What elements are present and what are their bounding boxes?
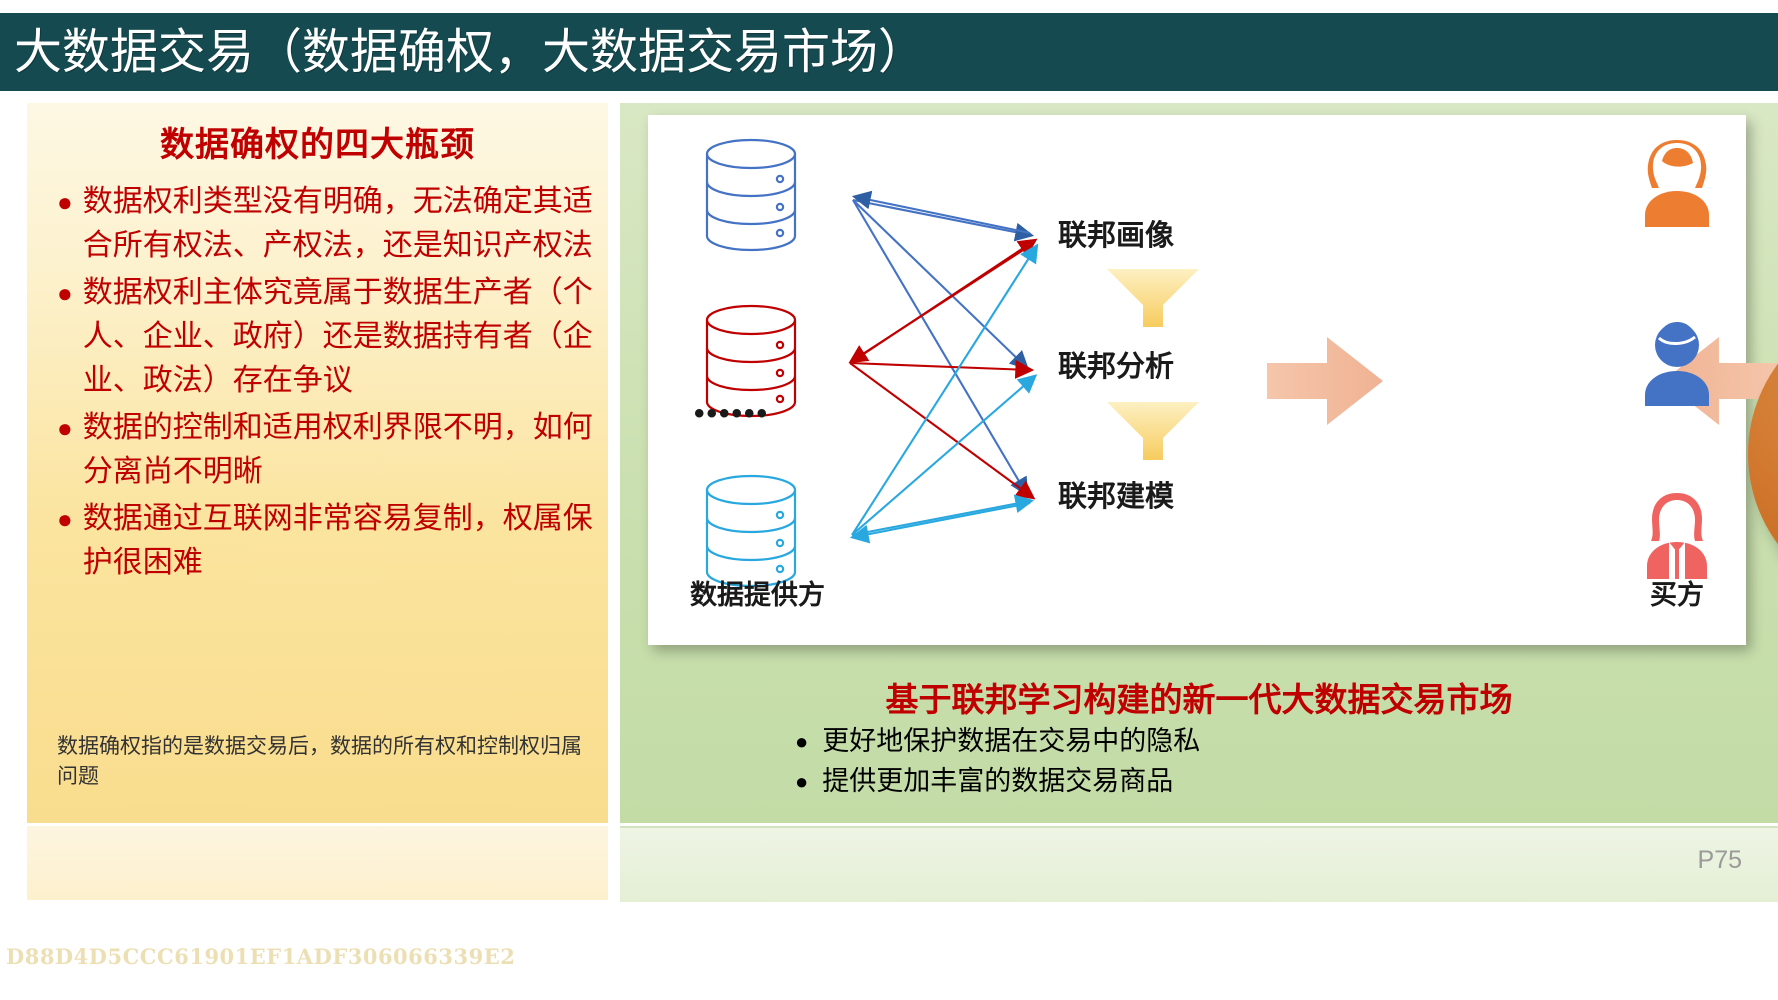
- left-footer-strip: [27, 826, 608, 900]
- bottleneck-bullet-list: ● 数据权利类型没有明确，无法确定其适合所有权法、产权法，还是知识产权法 ● 数…: [27, 180, 608, 585]
- bullet-dot-icon: ●: [795, 729, 808, 755]
- right-content-panel: •••••• 联邦画像 联邦分析 联邦建模: [620, 103, 1778, 823]
- bullet-dot-icon: ●: [57, 271, 73, 315]
- left-content-panel: 数据确权的四大瓶颈 ● 数据权利类型没有明确，无法确定其适合所有权法、产权法，还…: [27, 103, 608, 823]
- list-item: ● 提供更加丰富的数据交易商品: [795, 763, 1200, 801]
- page-title: 大数据交易（数据确权，大数据交易市场）: [0, 28, 926, 76]
- page-number: P75: [1698, 846, 1742, 875]
- summary-heading: 基于联邦学习构建的新一代大数据交易市场: [620, 673, 1778, 721]
- summary-bullet-list: ● 更好地保护数据在交易中的隐私 ● 提供更加丰富的数据交易商品: [795, 723, 1200, 803]
- cyan-edges: [852, 247, 1036, 537]
- down-arrow-icon: [1103, 265, 1203, 331]
- list-item-label: 数据的控制和适用权利界限不明，如何分离尚不明晰: [83, 406, 600, 494]
- list-item-label: 提供更加丰富的数据交易商品: [822, 763, 1173, 801]
- bullet-dot-icon: ●: [57, 406, 73, 450]
- person-male-icon: [1638, 318, 1716, 408]
- list-item: ● 数据权利主体究竟属于数据生产者（个人、企业、政府）还是数据持有者（企业、政法…: [57, 271, 600, 403]
- slide-title-bar: 大数据交易（数据确权，大数据交易市场）: [0, 13, 1778, 91]
- federated-node-label: 联邦建模: [1058, 473, 1174, 515]
- watermark-text: D88D4D5CCC61901EF1ADF306066339E2: [6, 944, 515, 969]
- list-item-label: 数据权利类型没有明确，无法确定其适合所有权法、产权法，还是知识产权法: [83, 180, 600, 268]
- person-female-icon: [1638, 139, 1716, 229]
- buyers-label: 买方: [1650, 573, 1704, 612]
- list-item-label: 数据权利主体究竟属于数据生产者（个人、企业、政府）还是数据持有者（企业、政法）存…: [83, 271, 600, 403]
- bullet-dot-icon: ●: [795, 769, 808, 795]
- down-arrow-icon: [1103, 398, 1203, 464]
- platform-label: 数据市场 交易平台: [1748, 455, 1778, 543]
- platform-label-line1: 数据市场: [1748, 455, 1778, 499]
- list-item: ● 数据权利类型没有明确，无法确定其适合所有权法、产权法，还是知识产权法: [57, 180, 600, 268]
- bullet-dot-icon: ●: [57, 180, 73, 224]
- list-item-label: 数据通过互联网非常容易复制，权属保护很困难: [83, 497, 600, 585]
- list-item: ● 数据通过互联网非常容易复制，权属保护很困难: [57, 497, 600, 585]
- person-female-icon: [1638, 490, 1716, 582]
- list-item: ● 数据的控制和适用权利界限不明，如何分离尚不明晰: [57, 406, 600, 494]
- left-panel-footnote: 数据确权指的是数据交易后，数据的所有权和控制权归属问题: [57, 731, 597, 791]
- federated-node-label: 联邦分析: [1058, 343, 1174, 385]
- ellipsis-indicator: ••••••: [694, 397, 769, 431]
- platform-label-line2: 交易平台: [1748, 499, 1778, 543]
- federated-connection-lines: [648, 115, 1746, 645]
- right-arrow-icon: [1265, 333, 1385, 429]
- blue-edges: [853, 200, 1030, 493]
- federated-node-label: 联邦画像: [1058, 212, 1174, 254]
- slide-footer-bar: P75: [620, 826, 1778, 902]
- architecture-diagram: •••••• 联邦画像 联邦分析 联邦建模: [648, 115, 1746, 645]
- providers-label: 数据提供方: [690, 573, 825, 612]
- database-icon: [690, 473, 812, 588]
- list-item: ● 更好地保护数据在交易中的隐私: [795, 723, 1200, 761]
- database-icon: [690, 137, 812, 252]
- left-panel-heading: 数据确权的四大瓶颈: [27, 117, 608, 166]
- bullet-dot-icon: ●: [57, 497, 73, 541]
- list-item-label: 更好地保护数据在交易中的隐私: [822, 723, 1200, 761]
